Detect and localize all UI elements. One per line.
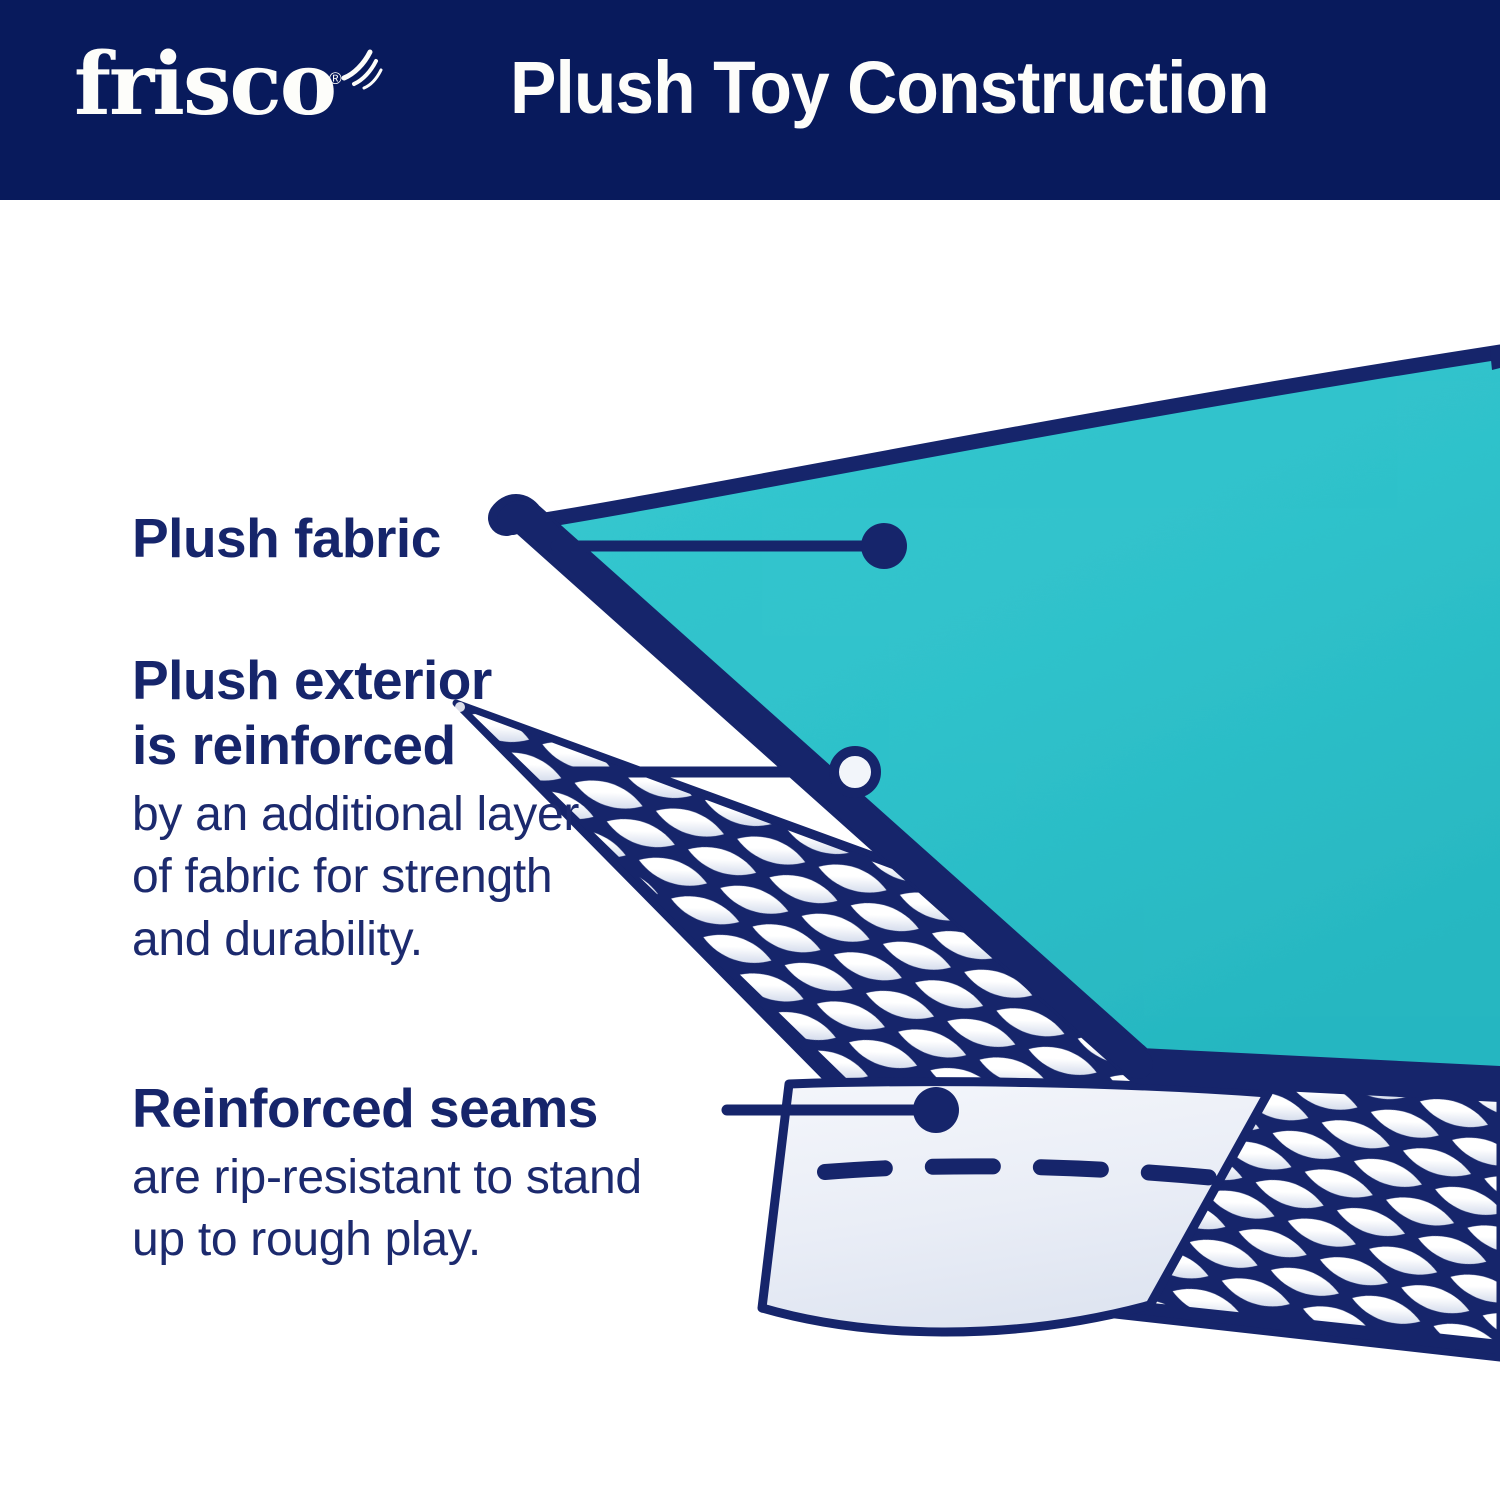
- frisco-swoosh-icon: [340, 48, 384, 92]
- callout-plush-exterior-body-line-2: of fabric for strength: [132, 846, 579, 908]
- callout-plush-exterior-heading-line-1: Plush exterior: [132, 648, 579, 713]
- callout-plush-exterior-body-line-3: and durability.: [132, 909, 579, 971]
- callout-plush-exterior: Plush exterior is reinforced by an addit…: [132, 648, 579, 971]
- callout-reinforced-seams-body-line-1: are rip-resistant to stand: [132, 1147, 642, 1209]
- callout-plush-fabric: Plush fabric: [132, 506, 441, 571]
- infographic-page: frisco® Plush Toy Construction: [0, 0, 1500, 1500]
- callout-plush-exterior-body-line-1: by an additional layer: [132, 784, 579, 846]
- page-title: Plush Toy Construction: [510, 47, 1269, 130]
- frisco-logo: frisco®: [74, 42, 342, 128]
- callout-plush-fabric-heading: Plush fabric: [132, 506, 441, 571]
- callout-reinforced-seams-heading: Reinforced seams: [132, 1076, 642, 1141]
- callout-reinforced-seams-body-line-2: up to rough play.: [132, 1209, 642, 1271]
- callout-reinforced-seams: Reinforced seams are rip-resistant to st…: [132, 1076, 642, 1272]
- header-bar: frisco® Plush Toy Construction: [0, 0, 1500, 200]
- callout-plush-exterior-heading-line-2: is reinforced: [132, 713, 579, 778]
- registered-trademark-mark: ®: [329, 69, 342, 88]
- frisco-logo-wordmark: frisco: [74, 34, 335, 135]
